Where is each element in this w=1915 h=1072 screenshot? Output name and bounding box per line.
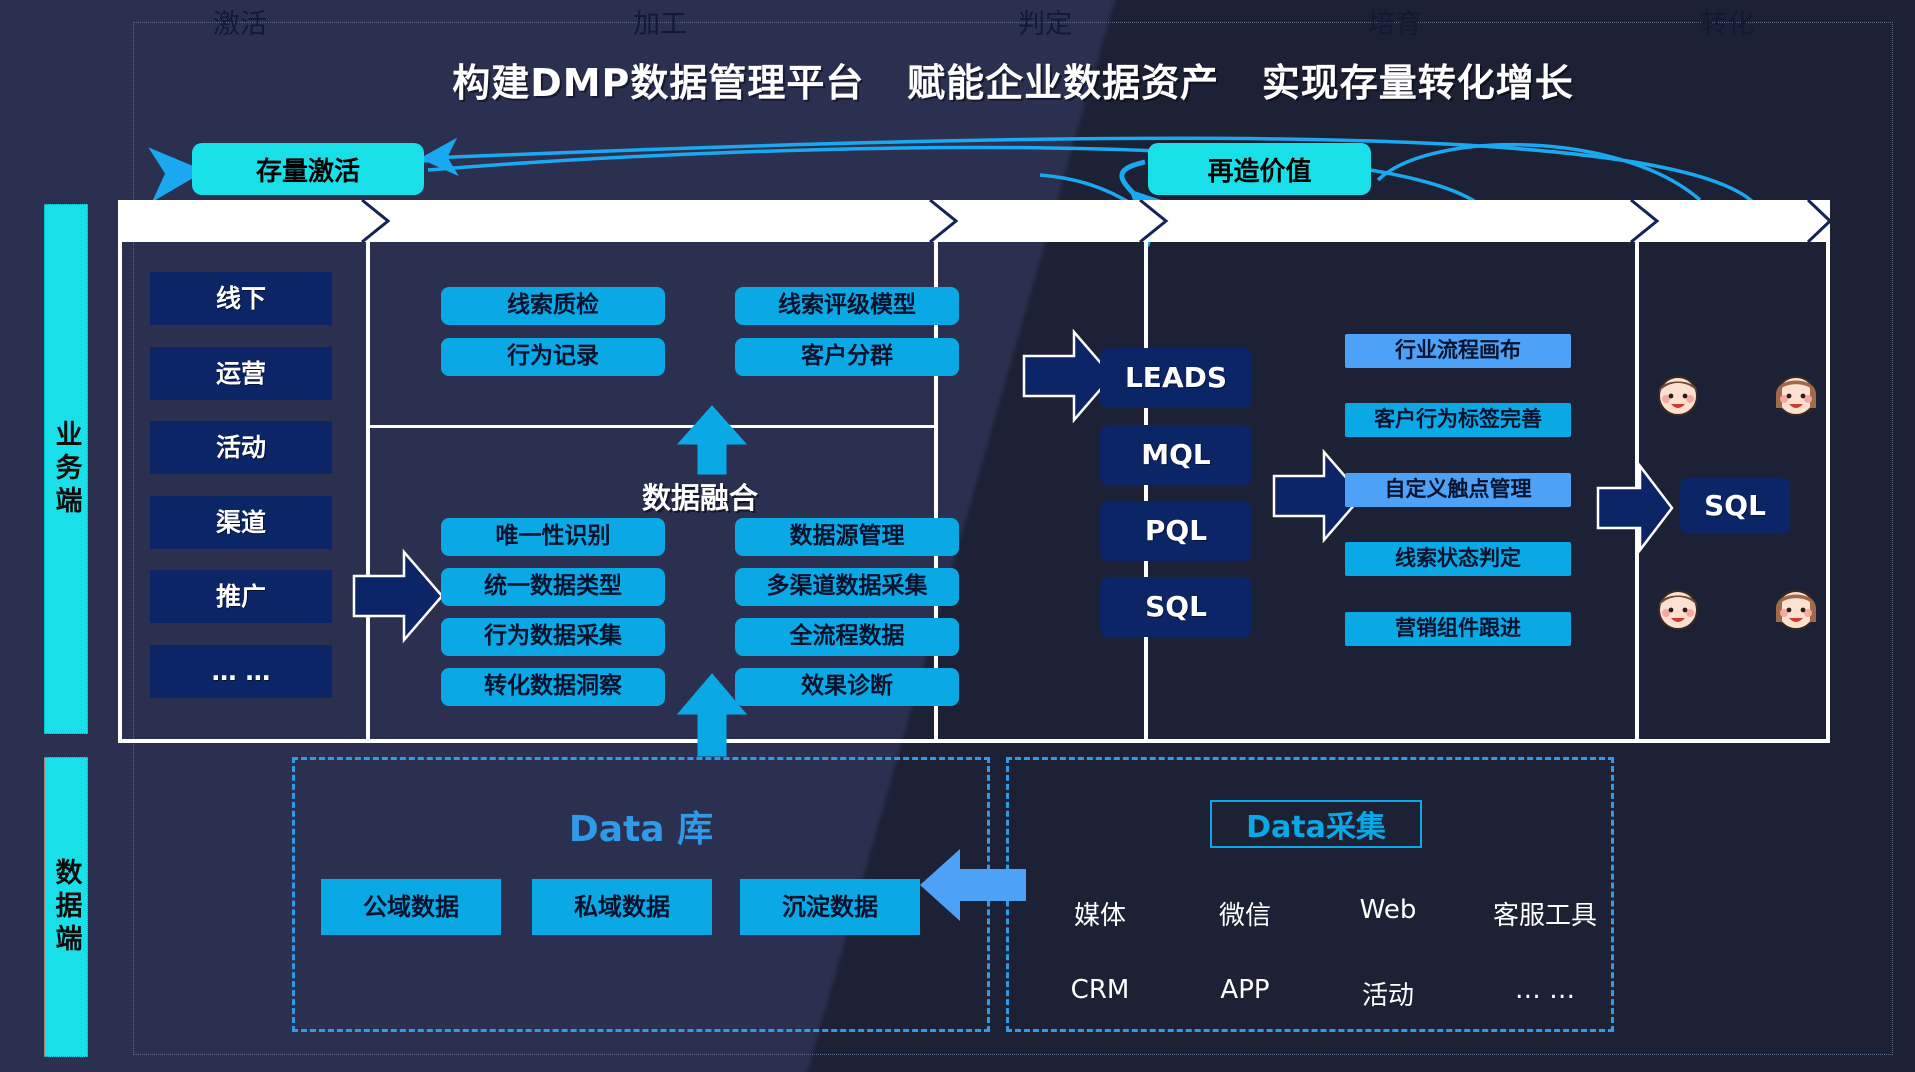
column-divider-1 <box>366 200 370 743</box>
chevron-separators <box>118 200 1830 242</box>
diagram-canvas: 构建DMP数据管理平台 赋能企业数据资产 实现存量转化增长 业务端 数据端 存量… <box>0 0 1915 1072</box>
arrow-activate-to-process <box>352 548 444 644</box>
badge-recreate-value: 再造价值 <box>1148 143 1371 195</box>
judge-item-0[interactable]: LEADS <box>1100 348 1252 408</box>
activate-item-4[interactable]: 推广 <box>150 570 332 623</box>
activate-item-3[interactable]: 渠道 <box>150 496 332 549</box>
fusion-left-0[interactable]: 唯一性识别 <box>441 518 665 556</box>
stage-label-judge[interactable]: 判定 <box>945 0 1145 42</box>
activate-item-5[interactable]: … … <box>150 645 332 698</box>
judge-item-1[interactable]: MQL <box>1100 425 1252 485</box>
process-top-left-0[interactable]: 线索质检 <box>441 287 665 325</box>
activate-item-1[interactable]: 运营 <box>150 347 332 400</box>
boy-avatar-icon <box>1652 582 1704 634</box>
data-library-item-0[interactable]: 公域数据 <box>321 879 501 935</box>
collection-item-5[interactable]: APP <box>1185 975 1305 1005</box>
data-library-item-2[interactable]: 沉淀数据 <box>740 879 920 935</box>
arrow-fusion-up <box>676 404 748 476</box>
stage-label-process[interactable]: 加工 <box>380 0 940 42</box>
process-top-right-1[interactable]: 客户分群 <box>735 338 959 376</box>
data-library-item-1[interactable]: 私域数据 <box>532 879 712 935</box>
fusion-left-1[interactable]: 统一数据类型 <box>441 568 665 606</box>
fusion-left-2[interactable]: 行为数据采集 <box>441 618 665 656</box>
process-top-left-1[interactable]: 行为记录 <box>441 338 665 376</box>
collection-item-6[interactable]: 活动 <box>1328 975 1448 1012</box>
fusion-right-2[interactable]: 全流程数据 <box>735 618 959 656</box>
arrow-nurture-to-convert <box>1596 462 1674 554</box>
data-collection-title: Data采集 <box>1210 800 1422 848</box>
stage-label-nurture[interactable]: 培育 <box>1160 0 1630 42</box>
nurture-item-4[interactable]: 营销组件跟进 <box>1345 612 1571 646</box>
side-tab-business: 业务端 <box>44 204 88 734</box>
arrow-collection-to-library <box>918 845 1028 925</box>
collection-item-0[interactable]: 媒体 <box>1040 895 1160 932</box>
arrow-datalib-up <box>676 672 748 758</box>
collection-item-3[interactable]: 客服工具 <box>1460 895 1630 932</box>
nurture-item-2[interactable]: 自定义触点管理 <box>1345 473 1571 507</box>
judge-item-2[interactable]: PQL <box>1100 501 1252 561</box>
girl-avatar-icon <box>1770 582 1822 634</box>
boy-avatar-icon <box>1652 368 1704 420</box>
fusion-left-3[interactable]: 转化数据洞察 <box>441 668 665 706</box>
process-frame <box>118 200 1830 743</box>
convert-sql-box[interactable]: SQL <box>1680 478 1790 534</box>
activate-item-2[interactable]: 活动 <box>150 421 332 474</box>
data-library-title: Data 库 <box>292 800 990 852</box>
collection-item-1[interactable]: 微信 <box>1185 895 1305 932</box>
collection-item-2[interactable]: Web <box>1328 895 1448 925</box>
stage-label-activate[interactable]: 激活 <box>118 0 362 42</box>
nurture-item-0[interactable]: 行业流程画布 <box>1345 334 1571 368</box>
collection-item-4[interactable]: CRM <box>1040 975 1160 1005</box>
nurture-item-1[interactable]: 客户行为标签完善 <box>1345 403 1571 437</box>
side-tab-data: 数据端 <box>44 757 88 1057</box>
process-top-right-0[interactable]: 线索评级模型 <box>735 287 959 325</box>
badge-stock-activation: 存量激活 <box>192 143 424 195</box>
stage-label-convert[interactable]: 转化 <box>1640 0 1815 42</box>
column-divider-2 <box>934 200 938 743</box>
fusion-right-1[interactable]: 多渠道数据采集 <box>735 568 959 606</box>
judge-item-3[interactable]: SQL <box>1100 577 1252 637</box>
fusion-title: 数据融合 <box>560 475 840 517</box>
process-stage-bar <box>118 200 1830 242</box>
fusion-right-0[interactable]: 数据源管理 <box>735 518 959 556</box>
collection-item-7[interactable]: … … <box>1460 975 1630 1005</box>
fusion-right-3[interactable]: 效果诊断 <box>735 668 959 706</box>
nurture-item-3[interactable]: 线索状态判定 <box>1345 542 1571 576</box>
activate-item-0[interactable]: 线下 <box>150 272 332 325</box>
process-inner-divider <box>366 425 934 428</box>
girl-avatar-icon <box>1770 368 1822 420</box>
